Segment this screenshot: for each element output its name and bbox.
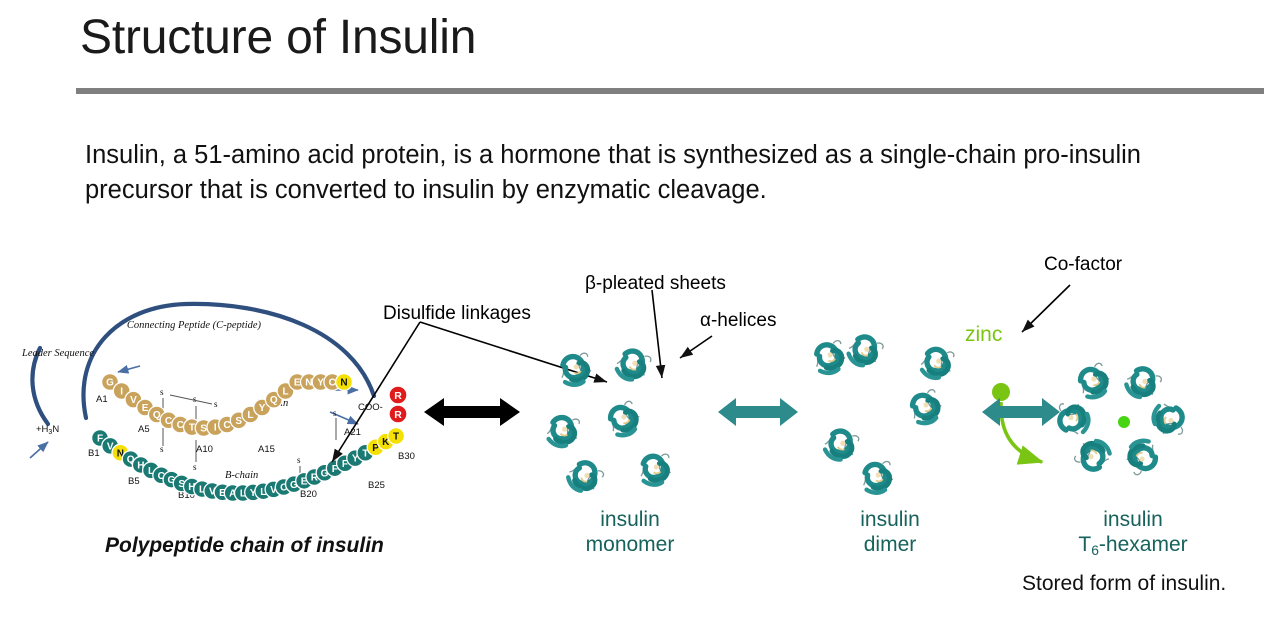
residue-letter: N <box>117 448 124 459</box>
position-label-B30: B30 <box>398 451 415 462</box>
b-chain-residue-27 <box>357 444 374 461</box>
b-chain-residue-30 <box>388 428 405 445</box>
svg-text:R: R <box>394 409 402 421</box>
residue-letter: H <box>188 482 195 493</box>
a-chain-residue-17 <box>289 374 306 391</box>
residue-letter: G <box>290 480 298 491</box>
zinc-binding-arrow <box>1001 402 1042 462</box>
residue-letter: L <box>282 387 288 398</box>
residue-letter: L <box>247 410 253 421</box>
position-label-A5: A5 <box>138 424 150 435</box>
b-chain-residue-25 <box>337 455 354 472</box>
residue-letter: Y <box>352 454 359 465</box>
b-chain-residue-12 <box>204 483 221 500</box>
equilibrium-arrow-teal-1 <box>718 398 798 426</box>
residue-letter: V <box>107 441 114 452</box>
title-divider <box>76 88 1264 94</box>
disulfide-bonds <box>163 398 336 486</box>
residue-letter: I <box>120 387 123 398</box>
b-chain-residue-17 <box>255 483 272 500</box>
sulfur-label: s <box>193 394 197 404</box>
b-chain-residue-14 <box>224 485 241 502</box>
b-chain-residue-8 <box>163 471 180 488</box>
position-label-A10: A10 <box>196 444 213 455</box>
b-chain-residue-13 <box>214 484 231 501</box>
insulin-monomer-group <box>546 346 672 498</box>
sulfur-label: s <box>333 408 337 418</box>
position-label-B15: B15 <box>238 492 255 503</box>
polypeptide-chain-diagram: Connecting Peptide (C-peptide) Leader Se… <box>21 304 415 503</box>
red-residues: R R <box>389 386 407 423</box>
sulfur-label: s <box>160 387 164 397</box>
a-chain-residue-12 <box>230 412 247 429</box>
a-chain-residue-11 <box>219 416 236 433</box>
b-chain-residue-16 <box>245 484 262 501</box>
residue-letter: C <box>329 378 336 389</box>
a-chain-residue-9 <box>195 420 212 437</box>
b-chain-residue-6 <box>143 462 160 479</box>
b-chain-beads: FVNQHLCGSHLVEALYLVCGERGFFYTPKT <box>92 428 405 502</box>
a-chain-residue-7 <box>172 416 189 433</box>
body-paragraph: Insulin, a 51-amino acid protein, is a h… <box>85 138 1175 208</box>
a-chain-residue-19 <box>312 374 329 391</box>
b-chain-residue-22 <box>306 469 323 486</box>
alpha-helices-label: α-helices <box>700 310 776 332</box>
a-chain-residue-18 <box>301 374 318 391</box>
disulfide-link-line <box>170 395 212 404</box>
residue-letter: S <box>235 416 242 427</box>
a-chain-residue-3 <box>125 391 142 408</box>
residue-letter: T <box>189 423 195 434</box>
caption-monomer-line2: monomer <box>560 533 700 558</box>
position-label-B5: B5 <box>128 476 140 487</box>
equilibrium-arrow-black <box>424 398 520 426</box>
position-label-A1: A1 <box>96 394 108 405</box>
sulfur-label: s <box>214 399 218 409</box>
caption-hexamer-line2: T6-hexamer <box>1058 533 1208 558</box>
a-chain-residue-5 <box>148 406 165 423</box>
residue-letter: E <box>219 488 226 499</box>
b-chain-residue-4 <box>122 451 139 468</box>
residue-letter: G <box>321 468 329 479</box>
residue-letter: C <box>158 471 165 482</box>
c-terminus-label: COO- <box>358 402 383 413</box>
b-chain-residue-21 <box>296 472 313 489</box>
position-label-B20: B20 <box>300 489 317 500</box>
residue-letter: L <box>199 485 205 496</box>
hexamer-zinc-center <box>1118 416 1130 428</box>
sulfur-label: s <box>160 444 164 454</box>
residue-letter: E <box>294 378 301 389</box>
b-chain-residue-3 <box>112 444 129 461</box>
a-chain-beads: GIVEQCCTSICSLYQLENYCN <box>102 374 353 437</box>
residue-letter: V <box>209 487 216 498</box>
caption-dimer: insulin dimer <box>825 508 955 558</box>
residue-letter: F <box>332 464 338 475</box>
leader-sequence-arc <box>32 348 48 424</box>
b-chain-residue-5 <box>132 457 149 474</box>
position-label-B1: B1 <box>88 448 100 459</box>
b-chain-residue-29 <box>377 433 394 450</box>
hexamer-subscript: 6 <box>1091 542 1099 558</box>
b-chain-residue-7 <box>153 467 170 484</box>
residue-letter: C <box>280 483 287 494</box>
residue-letter: F <box>97 434 103 445</box>
a-chain-residue-6 <box>160 412 177 429</box>
b-chain-residue-9 <box>173 475 190 492</box>
residue-letter: G <box>168 475 176 486</box>
residue-letter: S <box>200 424 207 435</box>
residue-letter: N <box>305 378 312 389</box>
residue-letter: H <box>137 461 144 472</box>
a-chain-residue-10 <box>207 419 224 436</box>
zinc-atom-dot <box>992 383 1010 401</box>
polypeptide-caption: Polypeptide chain of insulin <box>105 534 384 558</box>
sulfur-label: s <box>297 455 301 465</box>
svg-text:R: R <box>394 390 402 402</box>
b-chain-residue-23 <box>316 464 333 481</box>
a-chain-residue-15 <box>265 391 282 408</box>
residue-letter: C <box>223 420 230 431</box>
a-chain-residue-1 <box>102 374 119 391</box>
a-chain-residue-16 <box>277 383 294 400</box>
b-chain-residue-26 <box>347 450 364 467</box>
cofactor-label: Co-factor <box>1044 254 1122 276</box>
alpha-helices-leader <box>680 336 712 358</box>
disulfide-leader-right <box>420 322 607 382</box>
b-chain-residue-24 <box>326 460 343 477</box>
position-label-B25: B25 <box>368 480 385 491</box>
a-chain-residue-21 <box>336 374 353 391</box>
equilibrium-arrow-teal-2 <box>982 398 1060 426</box>
residue-letter: C <box>177 420 184 431</box>
position-label-B10: B10 <box>178 490 195 501</box>
residue-letter: Q <box>153 410 161 421</box>
connecting-peptide-arc <box>83 304 374 418</box>
a-chain-residue-2 <box>113 383 130 400</box>
a-chain-residue-4 <box>137 399 154 416</box>
beta-pleated-sheets-label: β-pleated sheets <box>585 273 726 295</box>
residue-letter: E <box>301 476 308 487</box>
disulfide-linkages-label: Disulfide linkages <box>383 303 531 325</box>
a-chain-residue-14 <box>254 399 271 416</box>
a-chain-label: A-chain <box>254 398 288 409</box>
cleavage-arrow-2 <box>330 412 358 424</box>
residue-letter: F <box>342 459 348 470</box>
residue-letter: K <box>382 437 390 448</box>
b-chain-label: B-chain <box>225 470 258 481</box>
position-label-A15: A15 <box>258 444 275 455</box>
a-chain-residue-8 <box>184 419 201 436</box>
connecting-peptide-label: Connecting Peptide (C-peptide) <box>127 320 262 331</box>
a-chain-residue-20 <box>324 374 341 391</box>
page-title: Structure of Insulin <box>80 12 476 65</box>
residue-letter: I <box>214 423 217 434</box>
b-chain-residue-10 <box>183 478 200 495</box>
caption-monomer-line1: insulin <box>560 508 700 533</box>
caption-dimer-line2: dimer <box>825 533 955 558</box>
b-chain-residue-11 <box>194 481 211 498</box>
residue-letter: L <box>240 489 246 500</box>
insulin-dimer-group <box>811 331 955 495</box>
caption-hexamer-line1: insulin <box>1058 508 1208 533</box>
cofactor-leader <box>1022 285 1070 332</box>
residue-letter: Y <box>250 488 257 499</box>
residue-letter: C <box>165 416 172 427</box>
residue-letter: Y <box>259 403 266 414</box>
residue-letter: L <box>260 487 266 498</box>
hexamer-t: T <box>1078 533 1091 556</box>
residue-letter: A <box>229 489 236 500</box>
caption-hexamer: insulin T6-hexamer <box>1058 508 1208 558</box>
zinc-label: zinc <box>965 323 1002 347</box>
a-chain-residue-13 <box>242 406 259 423</box>
residue-letter: V <box>270 485 277 496</box>
position-label-A21: A21 <box>344 427 361 438</box>
residue-letter: T <box>393 432 399 443</box>
disulfide-leader-left <box>332 322 420 462</box>
caption-monomer: insulin monomer <box>560 508 700 558</box>
leader-sequence-label: Leader Sequence <box>21 348 94 359</box>
leader-pointer-arrow <box>30 442 48 458</box>
b-chain-residue-20 <box>286 476 303 493</box>
b-chain-residue-28 <box>367 439 384 456</box>
residue-letter: G <box>106 378 114 389</box>
sulfur-label: s <box>193 462 197 472</box>
b-chain-residue-15 <box>234 485 251 502</box>
b-chain-residue-2 <box>102 437 119 454</box>
b-chain-residue-19 <box>275 479 292 496</box>
residue-letter: E <box>142 403 149 414</box>
residue-letter: R <box>311 473 319 484</box>
b-chain-residue-18 <box>265 481 282 498</box>
residue-letter: P <box>372 443 379 454</box>
residue-letter: V <box>130 395 137 406</box>
b-chain-residue-1 <box>92 430 109 447</box>
residue-letter: Q <box>270 395 278 406</box>
residue-letter: Q <box>127 455 135 466</box>
residue-letter: Y <box>317 378 324 389</box>
cpeptide-pointer-arrow <box>118 366 140 372</box>
residue-letter: L <box>148 466 154 477</box>
n-terminus-label: +H3N <box>36 424 59 436</box>
hexamer-suffix: -hexamer <box>1099 533 1188 556</box>
caption-dimer-line1: insulin <box>825 508 955 533</box>
residue-letter: N <box>340 378 347 389</box>
stored-form-note: Stored form of insulin. <box>1022 572 1226 596</box>
slide-root: Structure of Insulin Insulin, a 51-amino… <box>0 0 1264 626</box>
residue-letter: T <box>362 448 368 459</box>
insulin-hexamer-group <box>1059 361 1184 476</box>
residue-letter: S <box>178 479 185 490</box>
beta-sheets-leader <box>652 290 662 378</box>
